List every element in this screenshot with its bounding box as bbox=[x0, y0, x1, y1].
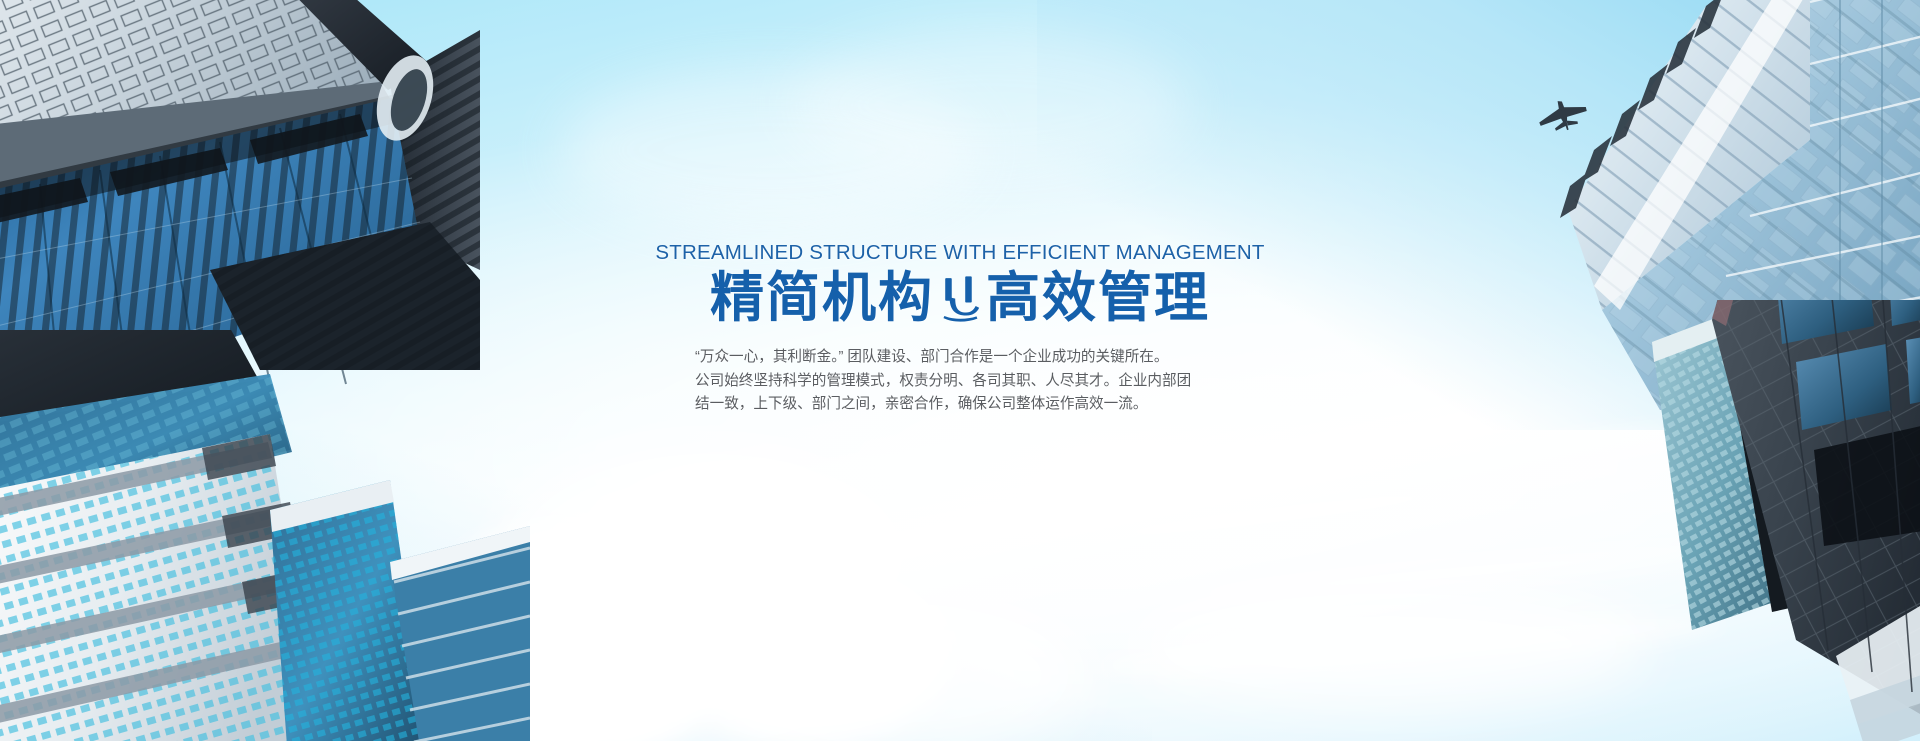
hero-body-line-1: “万众一心，其利断金。” 团队建设、部门合作是一个企业成功的关键所在。 bbox=[695, 346, 1225, 370]
hero-headline-right: 高效管理 bbox=[986, 268, 1210, 328]
brush-stroke-separator-icon bbox=[934, 274, 986, 324]
hero-banner: STREAMLINED STRUCTURE WITH EFFICIENT MAN… bbox=[0, 0, 1920, 741]
hero-body-line-2: 公司始终坚持科学的管理模式，权责分明、各司其职、人尽其才。企业内部团 bbox=[695, 370, 1225, 394]
hero-headline: 精简机构 高效管理 bbox=[0, 268, 1920, 328]
hero-body-paragraph: “万众一心，其利断金。” 团队建设、部门合作是一个企业成功的关键所在。 公司始终… bbox=[695, 346, 1225, 417]
hero-eyebrow: STREAMLINED STRUCTURE WITH EFFICIENT MAN… bbox=[0, 243, 1920, 264]
hero-headline-left: 精简机构 bbox=[710, 268, 934, 328]
hero-body-line-3: 结一致，上下级、部门之间，亲密合作，确保公司整体运作高效一流。 bbox=[695, 393, 1225, 417]
hero-text-block: STREAMLINED STRUCTURE WITH EFFICIENT MAN… bbox=[0, 243, 1920, 417]
